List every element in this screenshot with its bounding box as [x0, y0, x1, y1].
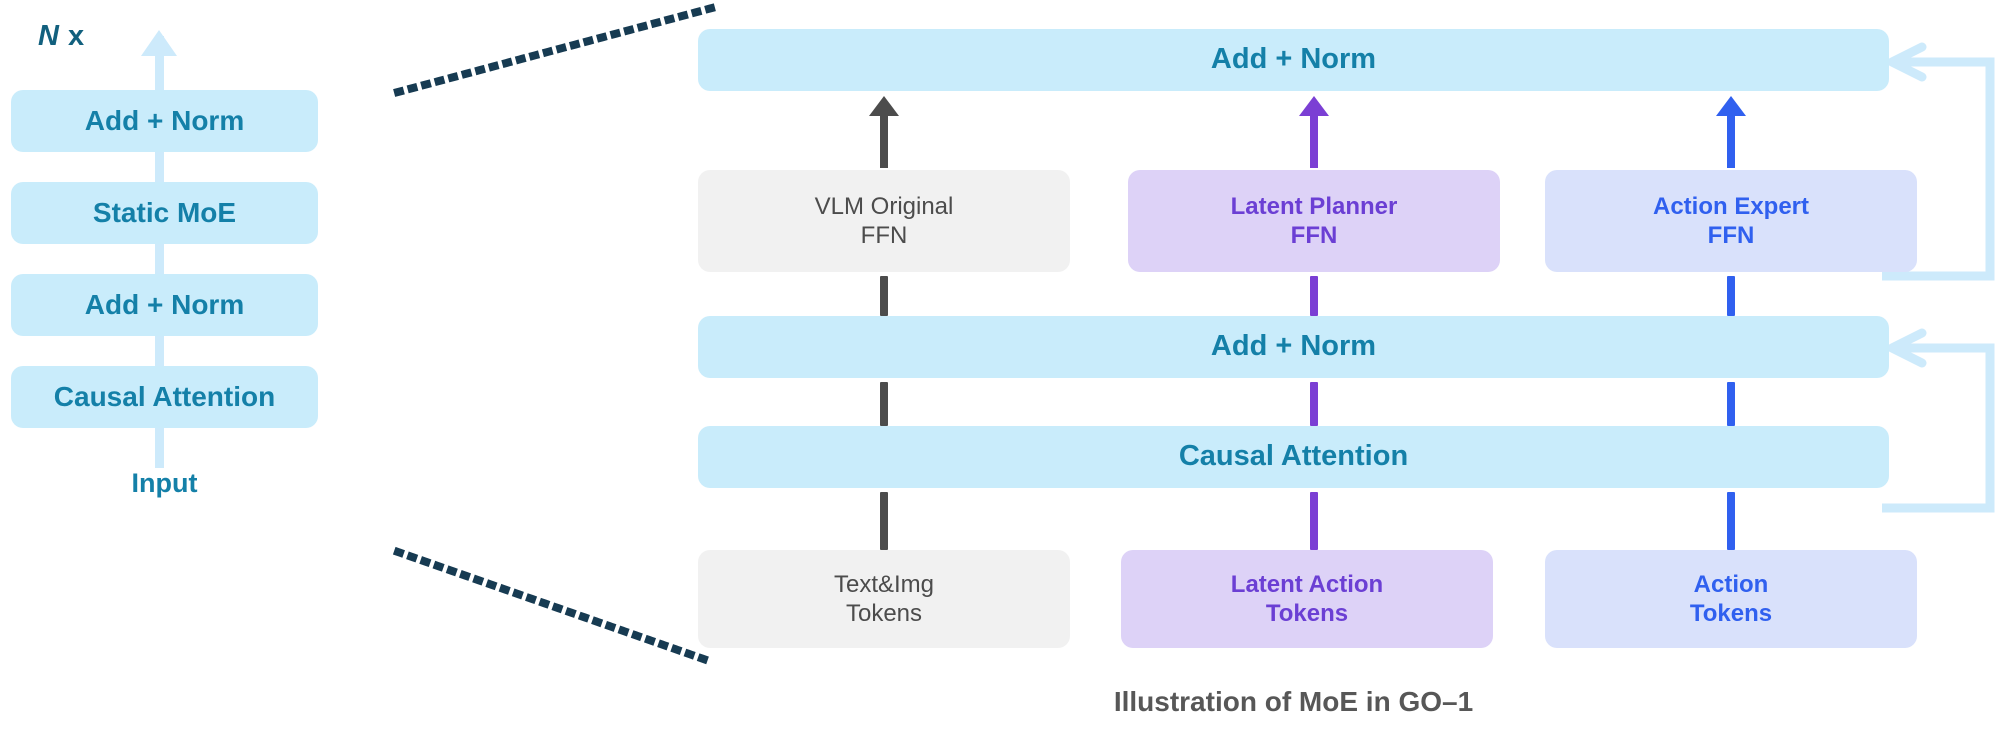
ffn-box-latent-planner[interactable]: Latent Planner FFN: [1128, 170, 1500, 272]
right-block-causal-attention[interactable]: Causal Attention: [698, 426, 1889, 488]
connector-add-norm-to-vlm-ffn: [880, 276, 888, 316]
connector-add-norm-to-latent-ffn: [1310, 276, 1318, 316]
connector-add-norm-to-action-ffn: [1727, 276, 1735, 316]
dotted-callout-bottom: [390, 540, 720, 670]
token-box-text-img[interactable]: Text&Img Tokens: [698, 550, 1070, 648]
diagram-canvas: N x Add + Norm Static MoE Add + Norm Cau…: [0, 0, 2014, 748]
token-box-latent-action[interactable]: Latent Action Tokens: [1121, 550, 1493, 648]
connector-causal-to-add-norm-blue: [1727, 382, 1735, 426]
connector-latent-tokens-to-causal: [1310, 492, 1318, 550]
left-connector-3: [155, 336, 164, 368]
arrow-vlm-ffn-to-add-norm-icon: [880, 96, 888, 168]
token-box-action[interactable]: Action Tokens: [1545, 550, 1917, 648]
left-block-add-norm-top[interactable]: Add + Norm: [11, 90, 318, 152]
figure-caption: Illustration of MoE in GO–1: [698, 686, 1889, 718]
right-block-add-norm-mid[interactable]: Add + Norm: [698, 316, 1889, 378]
arrow-action-expert-ffn-to-add-norm-icon: [1727, 96, 1735, 168]
right-block-add-norm-top[interactable]: Add + Norm: [698, 29, 1889, 91]
connector-textimg-tokens-to-causal: [880, 492, 888, 550]
left-block-static-moe[interactable]: Static MoE: [11, 182, 318, 244]
arrow-shaft-purple: [1310, 110, 1318, 168]
left-connector-2: [155, 244, 164, 276]
input-label: Input: [11, 468, 318, 499]
left-connector-1: [155, 152, 164, 184]
left-block-add-norm-bottom[interactable]: Add + Norm: [11, 274, 318, 336]
ffn-box-vlm-original[interactable]: VLM Original FFN: [698, 170, 1070, 272]
left-block-causal-attention[interactable]: Causal Attention: [11, 366, 318, 428]
arrow-latent-planner-ffn-to-add-norm-icon: [1310, 96, 1318, 168]
left-connector-4: [155, 428, 164, 468]
connector-action-tokens-to-causal: [1727, 492, 1735, 550]
repeat-count-x: x: [59, 20, 84, 52]
ffn-box-action-expert[interactable]: Action Expert FFN: [1545, 170, 1917, 272]
connector-causal-to-add-norm-grey: [880, 382, 888, 426]
repeat-count-n: N: [38, 20, 59, 52]
left-output-arrow-shaft: [155, 36, 164, 92]
arrow-shaft-grey: [880, 110, 888, 168]
connector-causal-to-add-norm-purple: [1310, 382, 1318, 426]
arrow-shaft-blue: [1727, 110, 1735, 168]
repeat-count-label: N x: [38, 20, 85, 53]
dotted-callout-top: [390, 0, 720, 110]
residual-skip-lower: [1880, 328, 2014, 518]
